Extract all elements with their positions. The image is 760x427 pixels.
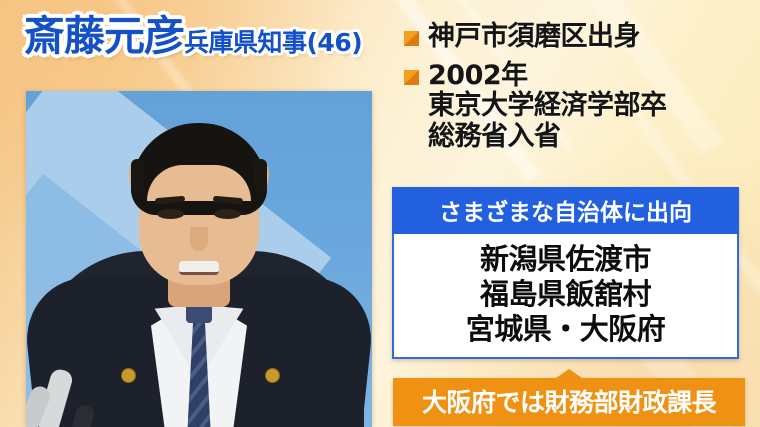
person-title: 兵庫県知事(46) [184,30,362,57]
profile-bullet-list: 神戸市須磨区出身 2002年 東京大学経済学部卒 総務省入省 [404,22,754,161]
square-bullet-icon [404,70,419,85]
broadcast-graphic: 斎藤元彦 兵庫県知事(46) [0,0,760,427]
panel-header: さまざまな自治体に出向 [392,187,739,234]
bullet-item: 神戸市須磨区出身 [404,22,754,52]
bullet-text: 神戸市須磨区出身 [428,22,640,52]
footer-text: 大阪府では財務部財政課長 [393,378,745,426]
portrait-photo [26,91,372,427]
subject-mouth [179,261,219,275]
panel-body: 新潟県佐渡市 福島県飯舘村 宮城県・大阪府 [392,234,739,359]
callout-pointer-icon [556,369,582,378]
subject-sideburn-left [131,159,144,193]
panel-line: 福島県飯舘村 [394,277,737,312]
headline: 斎藤元彦 兵庫県知事(46) [24,16,362,57]
lapel-badge-icon [265,368,280,383]
subject-sideburn-right [254,159,267,193]
bullet-text: 2002年 東京大学経済学部卒 総務省入省 [428,61,667,152]
subject-eye-left [157,209,184,219]
panel-line: 宮城県・大阪府 [394,312,737,347]
subject-nose [190,227,208,251]
bullet-item: 2002年 東京大学経済学部卒 総務省入省 [404,61,754,152]
panel-line: 新潟県佐渡市 [394,242,737,277]
subject-eye-right [214,209,241,219]
secondment-panel: さまざまな自治体に出向 新潟県佐渡市 福島県飯舘村 宮城県・大阪府 [392,187,739,359]
lapel-badge-icon [121,368,136,383]
person-name: 斎藤元彦 [24,16,184,57]
footer-callout: 大阪府では財務部財政課長 [393,369,745,426]
square-bullet-icon [404,31,419,46]
